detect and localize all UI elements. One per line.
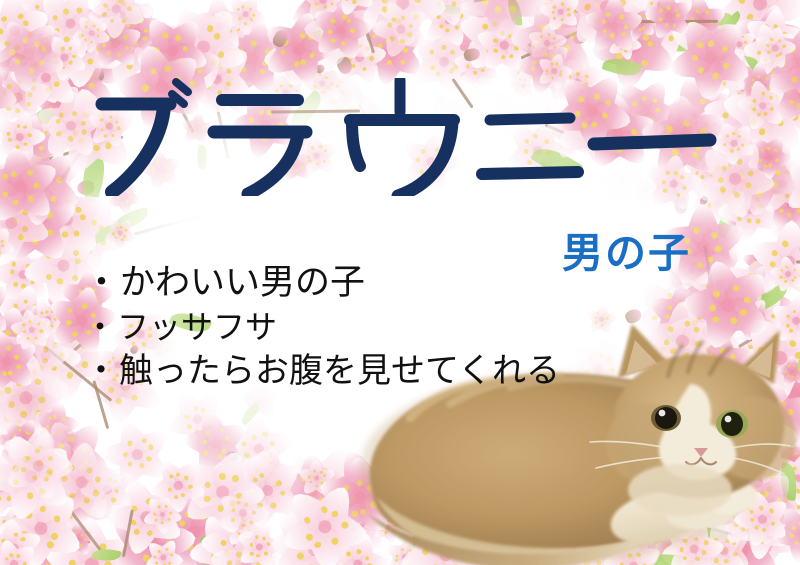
flower-stamen bbox=[714, 500, 722, 508]
sakura-flower-icon bbox=[683, 260, 774, 351]
flower-stamen bbox=[11, 83, 15, 87]
flower-petal bbox=[0, 520, 21, 554]
sakura-flower-icon bbox=[509, 428, 567, 486]
flower-center bbox=[526, 536, 543, 553]
flower-petal bbox=[53, 17, 99, 64]
flower-stamen bbox=[751, 518, 757, 524]
flower-petal bbox=[772, 366, 800, 401]
flower-center bbox=[422, 520, 429, 527]
flower-stamen bbox=[609, 537, 616, 544]
flower-petal bbox=[625, 4, 674, 52]
flower-petal bbox=[33, 64, 85, 115]
flower-petal bbox=[776, 255, 797, 277]
flower-stamen bbox=[25, 511, 32, 518]
flower-stamen bbox=[545, 434, 548, 437]
flower-petal bbox=[703, 431, 733, 462]
flower-petal bbox=[538, 424, 558, 444]
flower-center bbox=[744, 297, 761, 314]
flower-stamen bbox=[472, 41, 480, 49]
flower-petal bbox=[749, 163, 787, 200]
sakura-flower-icon bbox=[292, 454, 340, 502]
flower-petal bbox=[680, 495, 742, 556]
flower-stamen bbox=[39, 120, 44, 125]
flower-petal bbox=[86, 0, 129, 30]
flower-petal bbox=[712, 0, 778, 21]
flower-stamen bbox=[535, 463, 539, 467]
flower-petal bbox=[749, 534, 785, 565]
sakura-flower-icon bbox=[599, 310, 706, 417]
flower-center bbox=[760, 75, 772, 87]
flower-petal bbox=[765, 66, 800, 106]
flower-center bbox=[64, 119, 77, 132]
flower-stamen bbox=[675, 26, 682, 33]
flower-stamen bbox=[670, 538, 675, 543]
flower-stamen bbox=[764, 156, 773, 165]
flower-stamen bbox=[733, 363, 737, 367]
flower-stamen bbox=[315, 518, 320, 523]
flower-petal bbox=[407, 446, 439, 478]
flower-center bbox=[793, 489, 800, 499]
flower-petal bbox=[219, 472, 266, 518]
flower-petal bbox=[0, 0, 63, 45]
flower-stamen bbox=[444, 44, 452, 52]
flower-petal bbox=[651, 308, 694, 353]
flower-petal bbox=[539, 23, 600, 84]
flower-stamen bbox=[672, 559, 677, 564]
flower-stamen bbox=[553, 17, 559, 23]
flower-center bbox=[525, 45, 542, 62]
flower-petal bbox=[558, 0, 615, 29]
flower-stamen bbox=[168, 518, 171, 521]
flower-stamen bbox=[49, 317, 53, 321]
flower-center bbox=[222, 34, 234, 46]
flower-stamen bbox=[768, 363, 772, 367]
flower-stamen bbox=[436, 555, 442, 561]
flower-stamen bbox=[765, 372, 775, 382]
flower-petal bbox=[339, 0, 378, 39]
flower-petal bbox=[398, 438, 426, 467]
flower-petal bbox=[768, 473, 800, 508]
flower-petal bbox=[12, 317, 56, 363]
flower-petal bbox=[116, 195, 135, 215]
branch-icon bbox=[796, 260, 800, 267]
flower-center bbox=[218, 543, 230, 555]
flower-petal bbox=[721, 258, 759, 296]
flower-stamen bbox=[525, 64, 533, 72]
sakura-flower-icon bbox=[589, 520, 657, 565]
flower-stamen bbox=[15, 418, 22, 425]
flower-petal bbox=[45, 550, 112, 565]
flower-stamen bbox=[777, 44, 783, 50]
flower-stamen bbox=[78, 47, 84, 53]
flower-stamen bbox=[766, 146, 768, 148]
flower-stamen bbox=[792, 176, 798, 182]
flower-stamen bbox=[0, 216, 4, 220]
sakura-flower-icon bbox=[0, 109, 70, 188]
flower-petal bbox=[247, 450, 281, 485]
flower-stamen bbox=[77, 364, 80, 367]
flower-stamen bbox=[536, 426, 539, 429]
flower-center bbox=[435, 456, 443, 464]
flower-center bbox=[774, 332, 781, 339]
flower-stamen bbox=[715, 264, 724, 273]
flower-stamen bbox=[757, 411, 765, 419]
flower-stamen bbox=[256, 391, 260, 395]
sakura-flower-icon bbox=[319, 457, 401, 539]
sakura-flower-icon bbox=[716, 392, 759, 435]
flower-petal bbox=[637, 407, 657, 426]
flower-stamen bbox=[41, 136, 46, 141]
flower-stamen bbox=[454, 25, 460, 31]
flower-stamen bbox=[187, 425, 192, 430]
flower-bud-icon bbox=[674, 197, 688, 214]
flower-petal bbox=[677, 14, 713, 50]
flower-stamen bbox=[210, 542, 216, 548]
flower-stamen bbox=[536, 475, 543, 482]
flower-petal bbox=[599, 2, 628, 31]
leaf-icon bbox=[698, 521, 729, 545]
flower-stamen bbox=[442, 452, 450, 460]
sakura-flower-icon bbox=[315, 520, 402, 565]
flower-stamen bbox=[21, 407, 27, 413]
sakura-flower-icon bbox=[220, 444, 313, 537]
flower-petal bbox=[476, 36, 516, 77]
flower-stamen bbox=[609, 33, 615, 39]
sakura-flower-icon bbox=[75, 0, 157, 51]
flower-stamen bbox=[485, 34, 491, 40]
flower-stamen bbox=[737, 92, 740, 95]
flower-petal bbox=[310, 0, 362, 39]
leaf-icon bbox=[199, 531, 228, 563]
flower-petal bbox=[736, 85, 757, 106]
flower-stamen bbox=[215, 534, 221, 540]
flower-petal bbox=[239, 393, 269, 423]
flower-petal bbox=[47, 422, 71, 447]
flower-petal bbox=[678, 421, 704, 448]
sakura-flower-icon bbox=[763, 460, 800, 529]
flower-stamen bbox=[745, 297, 752, 304]
flower-stamen bbox=[120, 226, 123, 229]
flower-stamen bbox=[318, 525, 328, 535]
flower-center bbox=[790, 457, 796, 463]
flower-center bbox=[715, 279, 725, 289]
flower-stamen bbox=[190, 43, 195, 48]
flower-petal bbox=[0, 20, 32, 71]
flower-center bbox=[656, 2, 663, 9]
flower-petal bbox=[109, 21, 146, 57]
flower-petal bbox=[48, 107, 97, 154]
flower-stamen bbox=[656, 2, 662, 8]
flower-stamen bbox=[756, 254, 759, 257]
flower-petal bbox=[170, 12, 202, 45]
flower-stamen bbox=[758, 202, 765, 209]
flower-petal bbox=[744, 229, 797, 281]
flower-stamen bbox=[700, 256, 707, 263]
flower-petal bbox=[713, 25, 735, 48]
flower-petal bbox=[779, 367, 800, 389]
flower-stamen bbox=[479, 35, 485, 41]
flower-petal bbox=[345, 28, 377, 61]
flower-stamen bbox=[785, 266, 789, 270]
flower-stamen bbox=[612, 516, 619, 523]
flower-stamen bbox=[10, 316, 16, 322]
flower-petal bbox=[148, 472, 183, 506]
flower-stamen bbox=[599, 485, 604, 490]
flower-petal bbox=[759, 80, 800, 123]
flower-petal bbox=[73, 12, 100, 39]
flower-stamen bbox=[665, 1, 668, 4]
flower-stamen bbox=[1, 15, 8, 22]
flower-petal bbox=[32, 0, 60, 18]
flower-bud-icon bbox=[23, 459, 43, 480]
flower-petal bbox=[318, 505, 373, 558]
flower-stamen bbox=[628, 510, 633, 515]
branch-icon bbox=[414, 429, 482, 476]
flower-petal bbox=[123, 5, 150, 33]
flower-stamen bbox=[79, 543, 82, 546]
flower-petal bbox=[490, 12, 522, 43]
flower-center bbox=[673, 525, 685, 537]
flower-stamen bbox=[766, 88, 772, 94]
flower-stamen bbox=[129, 13, 133, 17]
flower-petal bbox=[466, 20, 504, 58]
flower-stamen bbox=[115, 226, 118, 229]
flower-petal bbox=[759, 330, 789, 360]
flower-petal bbox=[690, 252, 750, 312]
flower-petal bbox=[769, 220, 800, 264]
flower-center bbox=[318, 0, 326, 4]
flower-petal bbox=[31, 40, 58, 66]
flower-petal bbox=[482, 23, 518, 60]
flower-center bbox=[702, 50, 718, 66]
flower-petal bbox=[435, 532, 480, 565]
flower-stamen bbox=[513, 534, 521, 542]
flower-petal bbox=[601, 510, 642, 549]
flower-stamen bbox=[604, 322, 607, 325]
branch-icon bbox=[690, 520, 760, 545]
flower-center bbox=[7, 524, 17, 534]
flower-stamen bbox=[244, 529, 252, 537]
flower-petal bbox=[755, 140, 777, 162]
flower-stamen bbox=[668, 519, 674, 525]
flower-stamen bbox=[725, 45, 729, 49]
flower-stamen bbox=[408, 23, 414, 29]
flower-petal bbox=[765, 79, 800, 130]
flower-stamen bbox=[124, 37, 129, 42]
flower-stamen bbox=[441, 44, 448, 51]
flower-center bbox=[57, 258, 70, 271]
flower-stamen bbox=[521, 436, 525, 440]
flower-petal bbox=[50, 79, 95, 126]
flower-petal bbox=[68, 522, 86, 541]
flower-stamen bbox=[242, 522, 247, 527]
flower-petal bbox=[452, 0, 513, 32]
flower-stamen bbox=[334, 494, 341, 501]
flower-petal bbox=[745, 372, 800, 426]
flower-stamen bbox=[82, 125, 86, 129]
flower-stamen bbox=[540, 518, 546, 524]
flower-petal bbox=[251, 393, 280, 423]
flower-stamen bbox=[338, 481, 345, 488]
flower-stamen bbox=[111, 497, 117, 503]
flower-stamen bbox=[5, 199, 9, 203]
flower-stamen bbox=[50, 324, 54, 328]
flower-stamen bbox=[792, 309, 797, 314]
flower-petal bbox=[529, 454, 568, 494]
flower-stamen bbox=[193, 60, 201, 68]
flower-stamen bbox=[63, 8, 71, 16]
flower-stamen bbox=[560, 17, 564, 21]
flower-center bbox=[490, 31, 502, 43]
flower-stamen bbox=[128, 22, 135, 29]
flower-stamen bbox=[541, 47, 544, 50]
flower-petal bbox=[0, 336, 50, 394]
flower-petal bbox=[544, 486, 594, 536]
flower-center bbox=[781, 253, 798, 270]
flower-petal bbox=[0, 223, 4, 251]
flower-petal bbox=[554, 3, 584, 33]
flower-stamen bbox=[48, 221, 55, 228]
flower-stamen bbox=[51, 365, 57, 371]
flower-stamen bbox=[757, 174, 765, 182]
flower-petal bbox=[0, 343, 47, 399]
flower-petal bbox=[744, 336, 774, 366]
flower-petal bbox=[692, 21, 733, 61]
flower-stamen bbox=[310, 534, 317, 541]
flower-petal bbox=[585, 306, 606, 327]
flower-petal bbox=[149, 511, 198, 558]
flower-stamen bbox=[678, 444, 683, 449]
flower-stamen bbox=[740, 368, 744, 372]
flower-stamen bbox=[143, 19, 147, 23]
flower-stamen bbox=[783, 169, 789, 175]
flower-stamen bbox=[485, 517, 491, 523]
leaf-icon bbox=[104, 23, 147, 48]
flower-stamen bbox=[521, 428, 525, 432]
flower-stamen bbox=[719, 55, 723, 59]
flower-petal bbox=[448, 428, 494, 473]
flower-stamen bbox=[711, 426, 715, 430]
flower-stamen bbox=[728, 47, 735, 54]
flower-stamen bbox=[338, 516, 345, 523]
flower-stamen bbox=[751, 183, 759, 191]
flower-stamen bbox=[731, 417, 734, 420]
flower-stamen bbox=[20, 206, 29, 215]
flower-petal bbox=[0, 353, 42, 412]
flower-petal bbox=[741, 99, 775, 133]
flower-stamen bbox=[766, 49, 772, 55]
flower-stamen bbox=[739, 407, 742, 410]
flower-stamen bbox=[116, 31, 122, 37]
flower-petal bbox=[451, 385, 497, 430]
flower-petal bbox=[43, 309, 70, 336]
flower-petal bbox=[0, 561, 26, 565]
flower-stamen bbox=[31, 75, 36, 80]
flower-stamen bbox=[507, 28, 513, 34]
flower-stamen bbox=[367, 485, 373, 491]
flower-stamen bbox=[328, 522, 334, 528]
flower-center bbox=[697, 545, 715, 563]
flower-petal bbox=[308, 472, 334, 499]
flower-stamen bbox=[752, 361, 757, 366]
flower-stamen bbox=[130, 534, 139, 543]
flower-stamen bbox=[690, 265, 697, 272]
flower-stamen bbox=[319, 478, 325, 484]
flower-stamen bbox=[420, 441, 424, 445]
flower-petal bbox=[0, 202, 24, 233]
flower-stamen bbox=[786, 82, 792, 88]
flower-stamen bbox=[105, 51, 111, 57]
flower-stamen bbox=[750, 80, 756, 86]
flower-petal bbox=[597, 524, 635, 562]
flower-stamen bbox=[62, 507, 71, 516]
flower-stamen bbox=[377, 53, 383, 59]
flower-petal bbox=[792, 65, 800, 120]
flower-petal bbox=[57, 31, 104, 79]
flower-stamen bbox=[786, 212, 792, 218]
flower-center bbox=[47, 44, 55, 52]
flower-center bbox=[308, 485, 320, 497]
flower-petal bbox=[681, 339, 727, 384]
flower-center bbox=[257, 477, 270, 490]
flower-stamen bbox=[121, 0, 128, 7]
flower-stamen bbox=[493, 48, 499, 54]
flower-petal bbox=[589, 522, 641, 565]
flower-stamen bbox=[758, 200, 766, 208]
flower-center bbox=[13, 74, 22, 83]
flower-petal bbox=[536, 445, 561, 470]
flower-stamen bbox=[466, 423, 473, 430]
flower-stamen bbox=[765, 369, 773, 377]
sakura-flower-icon bbox=[691, 21, 747, 77]
flower-petal bbox=[230, 472, 278, 520]
sakura-flower-icon bbox=[0, 341, 84, 456]
flower-petal bbox=[319, 0, 347, 11]
flower-petal bbox=[314, 0, 345, 24]
sakura-flower-icon bbox=[399, 503, 488, 565]
flower-petal bbox=[732, 302, 764, 334]
flower-stamen bbox=[730, 65, 735, 70]
flower-stamen bbox=[767, 331, 771, 335]
flower-stamen bbox=[471, 467, 475, 471]
sakura-flower-icon bbox=[69, 452, 146, 529]
flower-stamen bbox=[74, 510, 78, 514]
flower-stamen bbox=[758, 286, 762, 290]
flower-petal bbox=[8, 521, 62, 565]
flower-bud-icon bbox=[271, 28, 290, 49]
flower-petal bbox=[328, 17, 381, 70]
flower-center bbox=[36, 421, 46, 431]
flower-petal bbox=[743, 456, 768, 481]
flower-petal bbox=[746, 314, 775, 344]
flower-petal bbox=[131, 13, 165, 46]
flower-petal bbox=[54, 411, 80, 436]
flower-stamen bbox=[256, 554, 260, 558]
flower-petal bbox=[581, 3, 619, 40]
flower-stamen bbox=[54, 54, 58, 58]
flower-stamen bbox=[636, 463, 639, 466]
flower-stamen bbox=[763, 416, 771, 424]
flower-petal bbox=[720, 274, 758, 311]
flower-stamen bbox=[620, 542, 626, 548]
flower-stamen bbox=[31, 369, 39, 377]
flower-petal bbox=[415, 500, 444, 529]
flower-stamen bbox=[339, 539, 345, 545]
flower-petal bbox=[247, 32, 294, 78]
flower-petal bbox=[587, 0, 648, 56]
flower-petal bbox=[702, 36, 725, 59]
flower-stamen bbox=[447, 535, 453, 541]
